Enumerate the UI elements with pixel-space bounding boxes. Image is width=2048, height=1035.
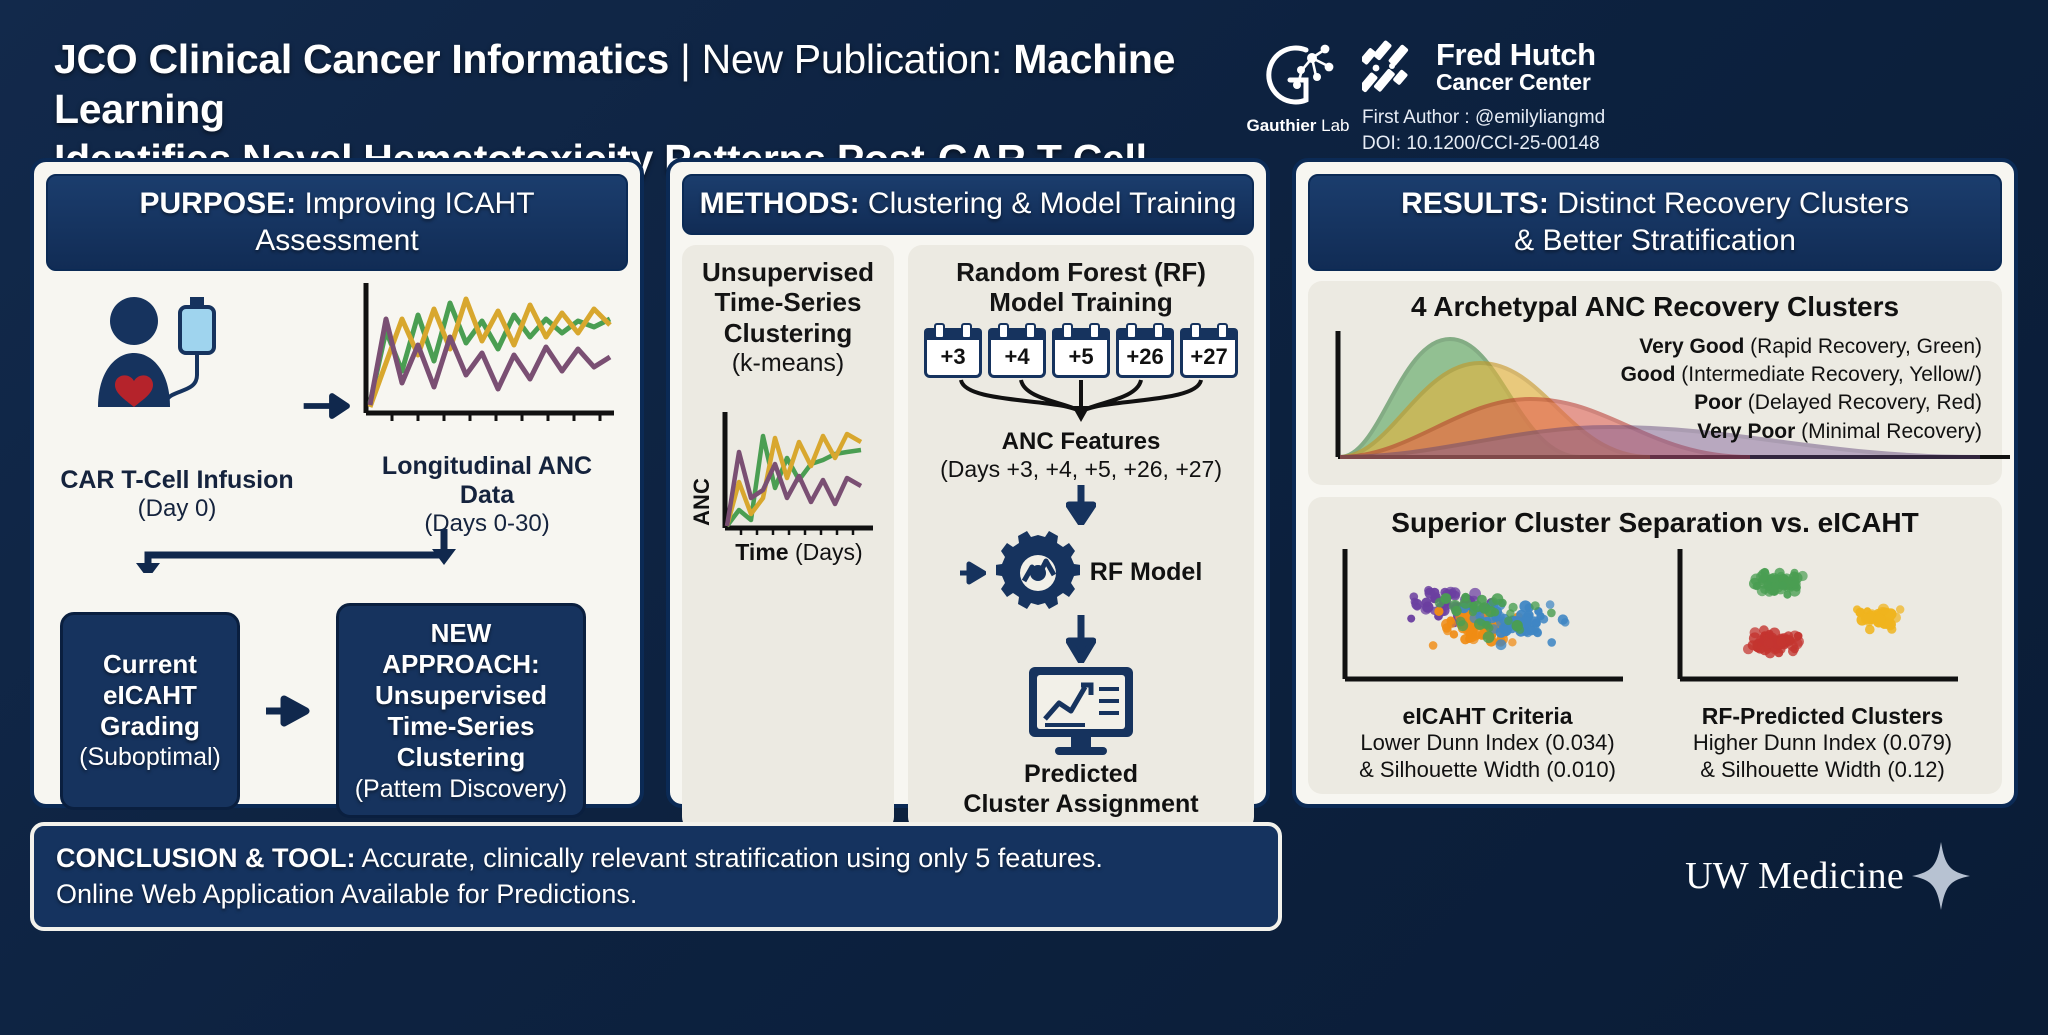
calendar-day-label: +3: [924, 340, 982, 378]
journal-name: JCO Clinical Cancer Informatics: [54, 36, 669, 82]
kmeans-anc-chart: ANC Time (Days): [693, 402, 883, 592]
new-line3: Time-Series: [351, 711, 571, 742]
arrow-down-to-output-icon: [1066, 615, 1096, 663]
clustering-title: Unsupervised Time-Series Clustering (k-m…: [702, 257, 874, 379]
calendar-day-label: +5: [1052, 340, 1110, 378]
anc-data-caption: Longitudinal ANC Data (Days 0-30): [352, 452, 622, 538]
doi-text: DOI: 10.1200/CCI-25-00148: [1362, 131, 1605, 157]
arrow-right-icon: [302, 386, 352, 426]
calendar-day-label: +4: [988, 340, 1046, 378]
infusion-title: CAR T-Cell Infusion: [52, 466, 302, 495]
uw-medicine-star-icon: [1910, 840, 1972, 912]
conclusion-banner: CONCLUSION & TOOL: Accurate, clinically …: [30, 822, 1282, 931]
new-sub: (Pattem Discovery): [351, 774, 571, 804]
title-separator: |: [680, 36, 690, 82]
eicaht-caption: eICAHT Criteria Lower Dunn Index (0.034)…: [1323, 702, 1653, 784]
kmeans-x-axis-label: Time (Days): [735, 539, 862, 565]
calendar-top-icon: [1052, 328, 1110, 340]
rf-training-title: Random Forest (RF) Model Training: [956, 257, 1206, 318]
calendar-top-icon: [924, 328, 982, 340]
anc-data-sub: (Days 0-30): [352, 510, 622, 538]
infusion-caption: CAR T-Cell Infusion (Day 0): [52, 466, 302, 523]
eicaht-head: eICAHT Criteria: [1323, 702, 1653, 730]
fred-hutch-line2: Cancer Center: [1436, 71, 1596, 94]
car-t-infusion-illustration: [52, 289, 302, 459]
results-panel: RESULTS: Distinct Recovery Clusters & Be…: [1292, 158, 2018, 808]
calendar-day-chip: +3: [924, 328, 982, 378]
clustering-subtitle: (k-means): [702, 349, 874, 379]
rf-model-label: RF Model: [1090, 558, 1203, 587]
eicaht-dunn: Lower Dunn Index (0.034): [1323, 730, 1653, 757]
purpose-header: PURPOSE: Improving ICAHT Assessment: [46, 174, 628, 271]
results-head-bold: RESULTS:: [1401, 187, 1549, 220]
gauthier-lab-logo: Gauthier Lab: [1234, 22, 1362, 136]
fred-hutch-line1: Fred Hutch: [1436, 39, 1596, 71]
rf-dunn: Higher Dunn Index (0.079): [1658, 730, 1988, 757]
panels-row: PURPOSE: Improving ICAHT Assessment: [22, 158, 2026, 808]
arrow-into-model-icon: [960, 560, 986, 586]
calendar-top-icon: [1180, 328, 1238, 340]
methods-panel: METHODS: Clustering & Model Training Uns…: [666, 158, 1270, 808]
legend-item: Very Poor (Minimal Recovery): [1621, 418, 1982, 446]
rf-training-subcard: Random Forest (RF) Model Training +3 +4 …: [908, 245, 1254, 831]
calendar-top-icon: [988, 328, 1046, 340]
rf-scatter-plot: [1658, 543, 1988, 695]
predicted-line1: Predicted: [963, 759, 1198, 789]
recovery-clusters-card: 4 Archetypal ANC Recovery Clusters Very …: [1308, 281, 2002, 485]
feature-brace-icon: [931, 378, 1231, 424]
gauthier-g-network-icon: [1250, 36, 1346, 114]
arrow-right-small-icon: [266, 694, 310, 728]
current-line2: eICAHT: [79, 680, 221, 711]
results-body: 4 Archetypal ANC Recovery Clusters Very …: [1308, 271, 2002, 794]
anc-data-title: Longitudinal ANC Data: [352, 452, 622, 510]
publication-meta: First Author : @emilyliangmd DOI: 10.120…: [1362, 105, 1605, 156]
predicted-cluster-caption: Predicted Cluster Assignment: [963, 759, 1198, 819]
calendar-day-chip: +27: [1180, 328, 1238, 378]
uw-medicine-label: UW Medicine: [1685, 854, 1904, 898]
results-head-rest: Distinct Recovery Clusters: [1549, 187, 1909, 220]
arrow-down-icon: [1066, 485, 1096, 525]
infusion-sub: (Day 0): [52, 495, 302, 523]
calendar-day-label: +27: [1180, 340, 1238, 378]
monitor-report-icon: [1025, 663, 1137, 757]
fred-hutch-logo-block: Fred Hutch Cancer Center First Author : …: [1362, 22, 1692, 156]
rf-model-row: RF Model: [960, 531, 1203, 615]
bottom-row: CONCLUSION & TOOL: Accurate, clinically …: [22, 808, 2026, 931]
legend-item: Good (Intermediate Recovery, Yellow/): [1621, 361, 1982, 389]
current-line1: Current: [79, 649, 221, 680]
legend-desc: (Delayed Recovery, Red): [1742, 391, 1982, 414]
calendar-day-chip: +5: [1052, 328, 1110, 378]
methods-head-bold: METHODS:: [700, 187, 860, 220]
purpose-panel: PURPOSE: Improving ICAHT Assessment: [30, 158, 644, 808]
calendar-row: +3 +4 +5 +26 +27: [924, 328, 1238, 378]
results-header: RESULTS: Distinct Recovery Clusters & Be…: [1308, 174, 2002, 271]
legend-name: Poor: [1694, 391, 1742, 414]
purpose-head-rest: Improving ICAHT Assessment: [255, 187, 534, 257]
kmeans-y-axis-label: ANC: [693, 478, 714, 526]
clustering-line2: Time-Series: [702, 287, 874, 318]
purpose-body: CAR T-Cell Infusion (Day 0): [46, 271, 628, 822]
legend-desc: (Intermediate Recovery, Yellow/): [1675, 363, 1982, 386]
clustering-line1: Unsupervised: [702, 257, 874, 288]
anc-features-title: ANC Features: [940, 428, 1222, 456]
conclusion-line2: Online Web Application Available for Pre…: [56, 876, 1256, 912]
eicaht-silhouette: & Silhouette Width (0.010): [1323, 757, 1653, 784]
rf-caption: RF-Predicted Clusters Higher Dunn Index …: [1658, 702, 1988, 784]
recovery-legend: Very Good (Rapid Recovery, Green) Good (…: [1621, 333, 1982, 446]
rf-head: RF-Predicted Clusters: [1658, 702, 1988, 730]
first-author: First Author : @emilyliangmd: [1362, 105, 1605, 131]
new-publication-label: New Publication:: [702, 36, 1003, 82]
anc-features-sub: (Days +3, +4, +5, +26, +27): [940, 456, 1222, 483]
current-line3: Grading: [79, 711, 221, 742]
purpose-top-row: CAR T-Cell Infusion (Day 0): [52, 281, 622, 531]
methods-header: METHODS: Clustering & Model Training: [682, 174, 1254, 235]
infographic-poster: JCO Clinical Cancer Informatics | New Pu…: [0, 0, 2048, 1035]
conclusion-line1: Accurate, clinically relevant stratifica…: [356, 843, 1103, 873]
calendar-day-chip: +26: [1116, 328, 1174, 378]
legend-item: Very Good (Rapid Recovery, Green): [1621, 333, 1982, 361]
legend-name: Very Poor: [1697, 420, 1795, 443]
current-grading-box: Current eICAHT Grading (Suboptimal): [60, 612, 240, 810]
conclusion-label: CONCLUSION & TOOL:: [56, 843, 356, 873]
anc-features-caption: ANC Features (Days +3, +4, +5, +26, +27): [940, 428, 1222, 483]
legend-name: Very Good: [1639, 335, 1744, 358]
new-line4: Clustering: [351, 742, 571, 773]
legend-item: Poor (Delayed Recovery, Red): [1621, 389, 1982, 417]
legend-desc: (Rapid Recovery, Green): [1744, 335, 1982, 358]
new-line2: Unsupervised: [351, 680, 571, 711]
cluster-separation-card: Superior Cluster Separation vs. eICAHT e…: [1308, 497, 2002, 794]
uw-medicine-logo: UW Medicine: [1282, 840, 2018, 912]
cluster-separation-title: Superior Cluster Separation vs. eICAHT: [1320, 507, 1990, 539]
results-head-line2: & Better Stratification: [1514, 224, 1796, 257]
purpose-head-bold: PURPOSE:: [139, 187, 296, 220]
iv-bag-icon: [166, 297, 214, 401]
methods-head-rest: Clustering & Model Training: [860, 187, 1237, 220]
rf-title-line2: Model Training: [956, 287, 1206, 318]
calendar-day-label: +26: [1116, 340, 1174, 378]
current-sub: (Suboptimal): [79, 742, 221, 772]
approach-row: Current eICAHT Grading (Suboptimal) NEW …: [52, 603, 622, 818]
legend-desc: (Minimal Recovery): [1795, 420, 1982, 443]
predicted-line2: Cluster Assignment: [963, 789, 1198, 819]
new-line1: NEW APPROACH:: [351, 618, 571, 680]
legend-name: Good: [1621, 363, 1676, 386]
gear-icon: [996, 531, 1080, 615]
methods-body: Unsupervised Time-Series Clustering (k-m…: [682, 235, 1254, 831]
fred-hutch-name: Fred Hutch Cancer Center: [1436, 39, 1596, 94]
eicaht-scatter-plot: [1323, 543, 1653, 695]
longitudinal-anc-chart: [352, 275, 622, 445]
rf-silhouette: & Silhouette Width (0.12): [1658, 757, 1988, 784]
clustering-subcard: Unsupervised Time-Series Clustering (k-m…: [682, 245, 894, 831]
calendar-day-chip: +4: [988, 328, 1046, 378]
new-approach-box: NEW APPROACH: Unsupervised Time-Series C…: [336, 603, 586, 818]
gauthier-lab-label: Gauthier Lab: [1247, 116, 1350, 136]
fred-hutch-mark-icon: [1362, 38, 1424, 96]
recovery-clusters-title: 4 Archetypal ANC Recovery Clusters: [1320, 291, 1990, 323]
scatter-pair: eICAHT Criteria Lower Dunn Index (0.034)…: [1320, 543, 1990, 784]
poster-header: JCO Clinical Cancer Informatics | New Pu…: [22, 18, 2026, 158]
rf-title-line1: Random Forest (RF): [956, 257, 1206, 288]
calendar-top-icon: [1116, 328, 1174, 340]
clustering-line3: Clustering: [702, 318, 874, 349]
